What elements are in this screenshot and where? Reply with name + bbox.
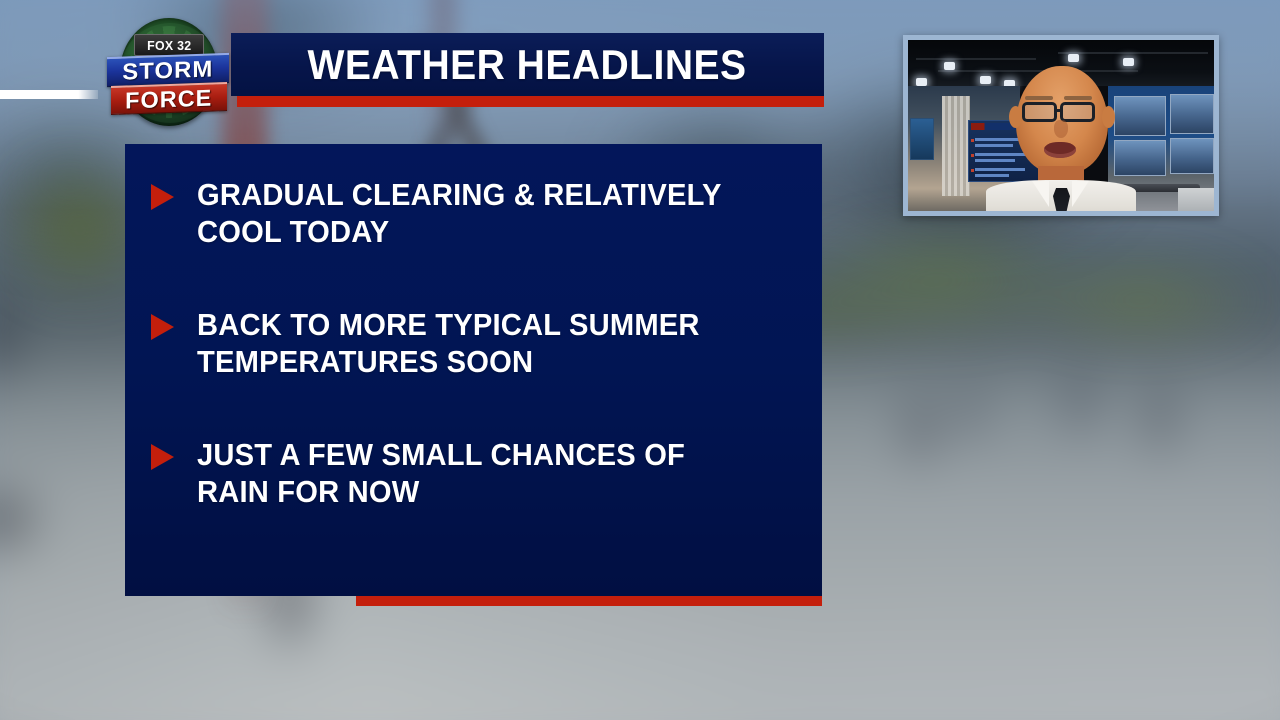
headline-text: BACK TO MORE TYPICAL SUMMER TEMPERATURES… [197, 306, 700, 380]
broadcast-stage: WEATHER HEADLINES FOX 32 STORM FORCE GRA… [0, 0, 1280, 720]
list-item: JUST A FEW SMALL CHANCES OF RAIN FOR NOW [151, 436, 796, 510]
studio-curtain [942, 96, 970, 196]
headline-text: GRADUAL CLEARING & RELATIVELY COOL TODAY [197, 176, 722, 250]
anchor-eyebrow [1064, 96, 1092, 100]
screen-bullet [971, 169, 974, 172]
glasses-icon [1022, 102, 1057, 122]
logo-banner-force: FORCE [111, 82, 227, 115]
studio-light-rig [916, 58, 1036, 60]
studio-light-rig [938, 70, 1138, 72]
meteorologist-video [908, 40, 1214, 211]
page-title: WEATHER HEADLINES [308, 41, 747, 89]
studio-cabinet [1178, 188, 1214, 211]
anchor-ear [1102, 106, 1115, 128]
screen-line [975, 159, 1015, 162]
headline-text: JUST A FEW SMALL CHANCES OF RAIN FOR NOW [197, 436, 685, 510]
anchor-collar [1032, 181, 1049, 207]
storm-force-logo: FOX 32 STORM FORCE [106, 14, 230, 132]
studio-light [1123, 58, 1134, 66]
screen-bullet [971, 139, 974, 142]
video-inset-frame [903, 35, 1219, 216]
network-badge: FOX 32 [134, 34, 204, 56]
glasses-icon [1060, 102, 1095, 122]
anchor-ear [1009, 106, 1022, 128]
studio-monitor [1170, 138, 1214, 174]
headlines-panel: GRADUAL CLEARING & RELATIVELY COOL TODAY… [125, 144, 822, 596]
studio-light [980, 76, 991, 84]
panel-red-rule [356, 596, 822, 606]
screen-line [975, 168, 1025, 171]
studio-monitor [1114, 96, 1166, 136]
studio-monitor-left [910, 118, 934, 160]
list-item: BACK TO MORE TYPICAL SUMMER TEMPERATURES… [151, 306, 796, 380]
red-triangle-bullet-icon [151, 314, 174, 340]
studio-monitor [1114, 140, 1166, 176]
studio-light [1068, 54, 1079, 62]
screen-line [975, 153, 1031, 156]
studio-monitor [1170, 94, 1214, 134]
header-bar: WEATHER HEADLINES [231, 33, 824, 96]
list-item: GRADUAL CLEARING & RELATIVELY COOL TODAY [151, 176, 796, 250]
accent-line [0, 90, 98, 99]
red-triangle-bullet-icon [151, 444, 174, 470]
studio-light [916, 78, 927, 86]
screen-line [975, 174, 1009, 177]
glasses-bridge [1057, 109, 1062, 112]
anchor-eyebrow [1025, 96, 1053, 100]
network-label: FOX 32 [147, 38, 191, 53]
header-red-rule [237, 96, 824, 107]
anchor-nose [1054, 120, 1068, 138]
red-triangle-bullet-icon [151, 184, 174, 210]
screen-line [975, 144, 1013, 147]
studio-light [944, 62, 955, 70]
anchor-mouth [1044, 142, 1076, 158]
screen-bullet [971, 154, 974, 157]
logo-text-storm: STORM [122, 55, 213, 85]
logo-text-force: FORCE [125, 84, 212, 114]
anchor-collar [1072, 181, 1089, 207]
studio-light-rig [1058, 52, 1208, 54]
